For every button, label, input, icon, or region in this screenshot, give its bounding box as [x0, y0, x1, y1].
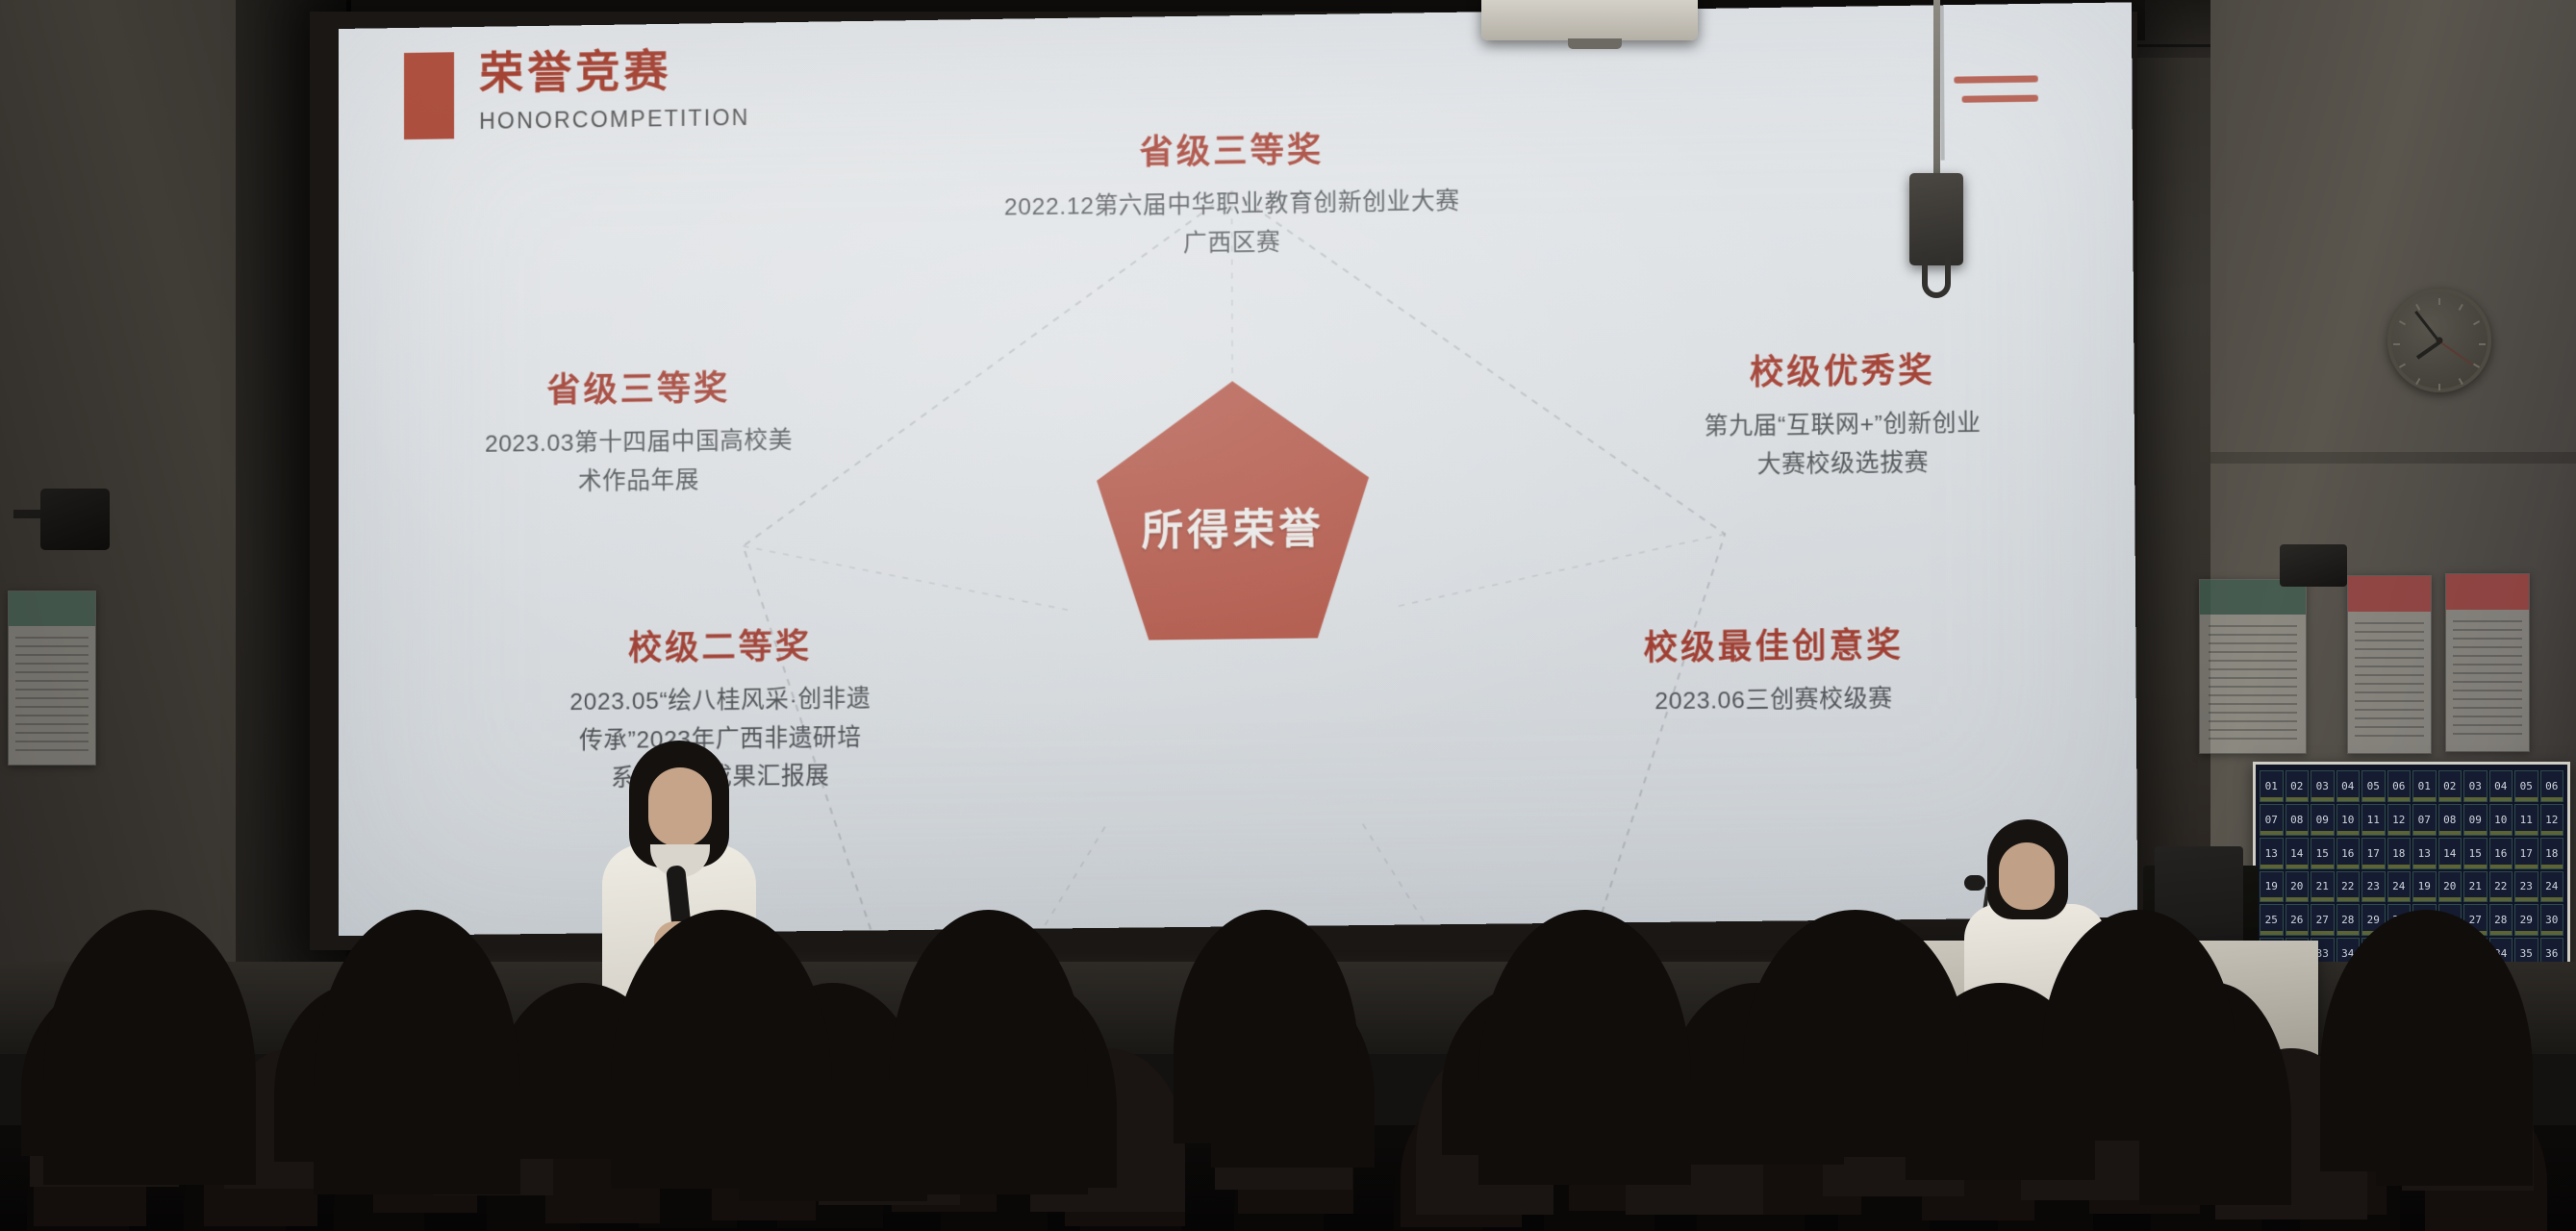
audience-member [27, 1135, 129, 1231]
award-node-right: 校级优秀奖 第九届“互联网+”创新创业 大赛校级选拔赛 [1628, 341, 2058, 487]
award-node-left-line-1: 2023.03第十四届中国高校美 [431, 421, 846, 465]
pocket-slot: 20 [2438, 871, 2462, 903]
award-node-right-line-1: 第九届“互联网+”创新创业 [1628, 404, 2058, 448]
audience-member [34, 1098, 146, 1226]
pocket-slot: 23 [2514, 871, 2538, 903]
wall-clock-icon [2387, 289, 2491, 392]
right-wall-flowchart-poster [2199, 579, 2307, 754]
left-wall-notice-poster [8, 590, 96, 766]
pocket-slot: 29 [2514, 904, 2538, 936]
poster-body-lines [2209, 625, 2297, 740]
pocket-slot: 24 [2387, 871, 2412, 903]
audience-member [941, 1135, 1048, 1231]
pocket-slot: 22 [2336, 871, 2361, 903]
clock-tick [2473, 364, 2480, 368]
pocket-slot: 15 [2463, 838, 2488, 869]
pocket-slot: 01 [2260, 770, 2284, 802]
pocket-slot: 02 [2438, 770, 2462, 802]
audience-member [1838, 1135, 1931, 1231]
award-node-top-line-2: 广西区赛 [1004, 221, 1460, 265]
poster-header-band [2348, 576, 2431, 612]
pocket-slot: 03 [2311, 770, 2335, 802]
audience-member [712, 1098, 816, 1220]
pocket-slot: 02 [2286, 770, 2310, 802]
clock-tick [2438, 298, 2440, 305]
audience-member [1998, 1135, 2094, 1231]
clock-second-hand [2439, 340, 2473, 364]
clock-center-pin [2437, 338, 2443, 344]
audience-member [892, 1098, 997, 1212]
audience-member [334, 1135, 424, 1231]
pocket-slot: 11 [2361, 804, 2386, 836]
pocket-slot: 18 [2540, 838, 2564, 869]
poster-header-band [2446, 574, 2529, 610]
audience-member [777, 1135, 883, 1228]
two-red-bars-icon [1954, 75, 2038, 102]
projector-lens-icon [1568, 38, 1622, 49]
audience-member [1569, 1098, 1689, 1211]
award-node-bottom-right-desc: 2023.06三创赛校级赛 [1578, 679, 1970, 722]
left-wall-speaker-icon [40, 489, 110, 550]
pocket-slot: 30 [2387, 904, 2412, 936]
pocket-slot: 16 [2336, 838, 2361, 869]
audience-member [1238, 1098, 1354, 1214]
audience-member [2402, 1048, 2535, 1191]
pocket-slot: 18 [2387, 838, 2412, 869]
audience-member [2425, 1098, 2547, 1231]
audience-member [819, 1048, 960, 1205]
award-node-top-title: 省级三等奖 [1004, 120, 1460, 176]
audience-member [2151, 1135, 2261, 1231]
audience-member [1065, 1098, 1185, 1226]
clock-tick [2438, 384, 2440, 390]
right-wall-notice-poster-2 [2445, 573, 2530, 752]
pocket-slot: 26 [2438, 904, 2462, 936]
audience-member [2089, 1098, 2200, 1214]
clock-tick [2479, 343, 2486, 345]
pocket-slot: 21 [2463, 871, 2488, 903]
audience-member [1401, 1098, 1523, 1227]
clock-tick [2459, 304, 2463, 311]
clock-hour-hand [2416, 340, 2440, 359]
clock-tick [2415, 378, 2420, 385]
pocket-slot: 13 [2412, 838, 2437, 869]
audience-member [487, 1135, 580, 1231]
audience-member [2021, 1048, 2153, 1200]
award-node-bottom-right-title: 校级最佳创意奖 [1578, 616, 1969, 670]
pocket-slot: 13 [2260, 838, 2284, 869]
award-node-left-desc: 2023.03第十四届中国高校美 术作品年展 [431, 421, 846, 503]
audience-member [373, 1098, 477, 1213]
host-shirt [1964, 904, 2107, 1048]
hanging-strap [1922, 252, 1951, 298]
poster-body-lines [2453, 620, 2522, 737]
pocket-slot: 07 [2412, 804, 2437, 836]
slide-title: 荣誉竞赛 [479, 44, 749, 99]
audience-member [224, 1048, 361, 1189]
award-node-top: 省级三等奖 2022.12第六届中华职业教育创新创业大赛 广西区赛 [1004, 120, 1460, 265]
poster-body-lines [2355, 622, 2424, 739]
pendant-rod [1933, 0, 1940, 179]
pocket-slot: 12 [2540, 804, 2564, 836]
pocket-slot: 07 [2260, 804, 2284, 836]
award-node-right-desc: 第九届“互联网+”创新创业 大赛校级选拔赛 [1628, 404, 2058, 487]
pocket-slot: 08 [2286, 804, 2310, 836]
pocket-slot: 20 [2286, 871, 2310, 903]
clock-tick [2459, 378, 2463, 385]
pocket-slot: 12 [2387, 804, 2412, 836]
audience-member [1544, 1135, 1654, 1231]
pocket-slot: 06 [2387, 770, 2412, 802]
pocket-slot: 27 [2463, 904, 2488, 936]
pocket-slot: 23 [2361, 871, 2386, 903]
audience-member [30, 1048, 180, 1187]
pocket-slot: 19 [2412, 871, 2437, 903]
pocket-slot: 16 [2489, 838, 2513, 869]
lecture-hall-scene: 荣誉竞赛 HONORCOMPETITION [0, 0, 2576, 1231]
presenter-face [648, 767, 712, 846]
clock-tick [2399, 320, 2406, 325]
pocket-slot: 17 [2514, 838, 2538, 869]
pocket-slot: 05 [2514, 770, 2538, 802]
pocket-slot: 09 [2463, 804, 2488, 836]
pocket-slot: 26 [2286, 904, 2310, 936]
pocket-slot: 15 [2311, 838, 2335, 869]
pocket-slot: 14 [2286, 838, 2310, 869]
pocket-slot: 03 [2463, 770, 2488, 802]
audience-floor-shadow [0, 1125, 2576, 1231]
pocket-slot: 05 [2361, 770, 2386, 802]
award-node-right-line-2: 大赛校级选拔赛 [1628, 442, 2058, 487]
audience-member [2215, 1048, 2366, 1219]
slide-subtitle: HONORCOMPETITION [479, 105, 749, 135]
audience-member [1394, 1135, 1482, 1230]
pocket-slot: 27 [2311, 904, 2335, 936]
audience-member [204, 1098, 317, 1226]
pocket-slot: 14 [2438, 838, 2462, 869]
pocket-slot: 25 [2260, 904, 2284, 936]
award-node-left-line-2: 术作品年展 [431, 460, 846, 503]
audience-member [2266, 1098, 2386, 1215]
pocket-slot: 21 [2311, 871, 2335, 903]
award-node-left: 省级三等奖 2023.03第十四届中国高校美 术作品年展 [431, 359, 846, 503]
pocket-slot: 09 [2311, 804, 2335, 836]
right-wall-notice-poster-1 [2347, 575, 2432, 754]
pocket-slot: 10 [2489, 804, 2513, 836]
presenter-arm [654, 921, 700, 989]
poster-header-band [9, 591, 95, 626]
pocket-slot: 24 [2540, 871, 2564, 903]
pocket-slot: 25 [2412, 904, 2437, 936]
audience-member [2300, 1135, 2400, 1231]
award-node-bottom-left-title: 校级二等奖 [512, 617, 928, 671]
audience-member [1030, 1048, 1185, 1212]
pocket-slot: 11 [2514, 804, 2538, 836]
audience-member [1234, 1135, 1324, 1231]
audience-member [1080, 1135, 1181, 1231]
ceiling-projector-icon [1481, 0, 1698, 40]
audience-member [545, 1098, 661, 1223]
poster-body-lines [15, 637, 88, 751]
host-face [1999, 842, 2055, 910]
award-node-left-title: 省级三等奖 [431, 359, 846, 414]
header-accent-bar [404, 52, 454, 139]
pocket-slot: 22 [2489, 871, 2513, 903]
pocket-slot: 28 [2336, 904, 2361, 936]
audience-member [1823, 1048, 1964, 1196]
audience-member [184, 1135, 286, 1231]
pocket-slot: 30 [2540, 904, 2564, 936]
pocket-slot: 29 [2361, 904, 2386, 936]
clock-tick [2473, 320, 2480, 325]
audience-member [2451, 1135, 2547, 1231]
award-node-top-line-1: 2022.12第六届中华职业教育创新创业大赛 [1004, 183, 1460, 228]
wall-equipment-box [2280, 544, 2347, 587]
award-node-right-title: 校级优秀奖 [1628, 341, 2058, 396]
pocket-slot: 17 [2361, 838, 2386, 869]
audience-member [1626, 1048, 1764, 1215]
pocket-slot: 01 [2412, 770, 2437, 802]
audience-member [1922, 1098, 2034, 1220]
award-node-top-desc: 2022.12第六届中华职业教育创新创业大赛 广西区赛 [1004, 183, 1460, 265]
award-node-bottom-left-line-1: 2023.05“绘八桂风采·创非遗 [513, 680, 929, 723]
seated-host [1964, 819, 2109, 1041]
audience-member [433, 1048, 553, 1195]
slide-header: 荣誉竞赛 HONORCOMPETITION [404, 44, 749, 139]
pocket-slot: 06 [2540, 770, 2564, 802]
center-pentagon-label: 所得荣誉 [1142, 495, 1325, 558]
pocket-slot: 10 [2336, 804, 2361, 836]
audience-member [1416, 1048, 1554, 1215]
pocket-slot: 04 [2489, 770, 2513, 802]
clock-tick [2393, 343, 2400, 345]
audience-member [1215, 1048, 1352, 1190]
clock-tick [2399, 364, 2406, 368]
audience-member [1697, 1135, 1805, 1231]
award-node-bottom-right: 校级最佳创意奖 2023.06三创赛校级赛 [1578, 616, 1969, 722]
standing-presenter [594, 741, 758, 1039]
pocket-slot: 08 [2438, 804, 2462, 836]
award-node-bottom-right-line-1: 2023.06三创赛校级赛 [1578, 679, 1970, 722]
audience-member [623, 1048, 779, 1184]
audience-member [1737, 1098, 1862, 1215]
pocket-slot: 04 [2336, 770, 2361, 802]
right-wall-band [2210, 452, 2576, 464]
audience-member [639, 1135, 737, 1228]
pocket-slot: 19 [2260, 871, 2284, 903]
pocket-slot: 28 [2489, 904, 2513, 936]
